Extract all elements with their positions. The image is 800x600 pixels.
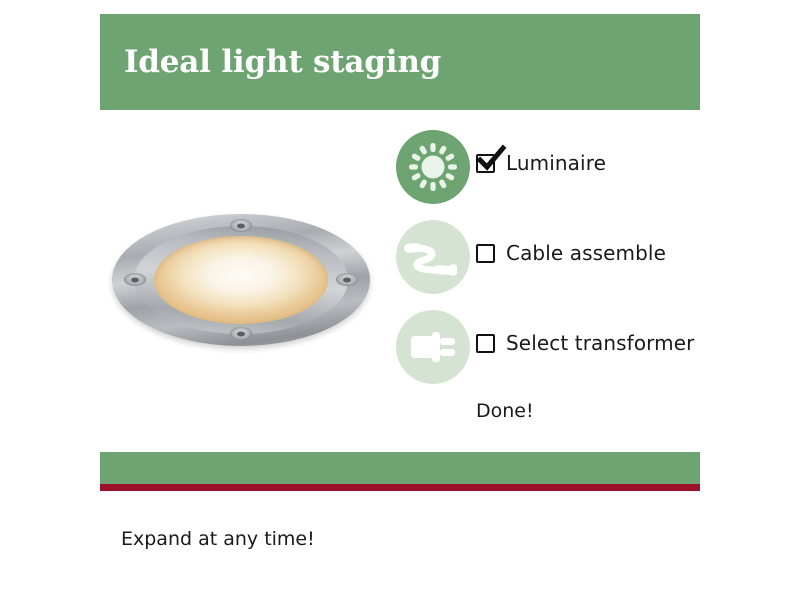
luminaire-screw-right [336, 273, 358, 286]
plug-icon [396, 310, 470, 384]
luminaire-screw-left [124, 273, 146, 286]
footer-green-bar [100, 452, 700, 484]
checklist-item-label: Select transformer [506, 331, 694, 355]
footer-note: Expand at any time! [121, 528, 315, 550]
checkbox-luminaire[interactable] [476, 154, 495, 173]
footer-red-underline [100, 484, 700, 491]
sun-icon [396, 130, 470, 204]
page-root: { "header": { "title": "Ideal light stag… [0, 0, 800, 600]
page-title: Ideal light staging [124, 44, 441, 80]
checklist-item-label: Luminaire [506, 151, 606, 175]
cable-icon [396, 220, 470, 294]
checklist-item-cable-assemble[interactable]: Cable assemble [396, 220, 696, 310]
checklist-item-label: Cable assemble [506, 241, 666, 265]
checkmark-icon [477, 147, 505, 173]
checklist: Luminaire Cable assemble [396, 130, 696, 400]
checklist-label-group: Luminaire [476, 151, 606, 175]
checklist-item-luminaire[interactable]: Luminaire [396, 130, 696, 220]
done-label: Done! [476, 400, 534, 422]
checklist-item-select-transformer[interactable]: Select transformer [396, 310, 696, 400]
luminaire-lens-glow [154, 236, 328, 324]
luminaire-screw-top [230, 219, 252, 232]
checkbox-select-transformer[interactable] [476, 334, 495, 353]
checkbox-cable-assemble[interactable] [476, 244, 495, 263]
checklist-label-group: Cable assemble [476, 241, 666, 265]
checklist-label-group: Select transformer [476, 331, 694, 355]
luminaire-screw-bottom [230, 327, 252, 340]
header-banner: Ideal light staging [100, 14, 700, 110]
product-image-recessed-luminaire [112, 214, 370, 346]
